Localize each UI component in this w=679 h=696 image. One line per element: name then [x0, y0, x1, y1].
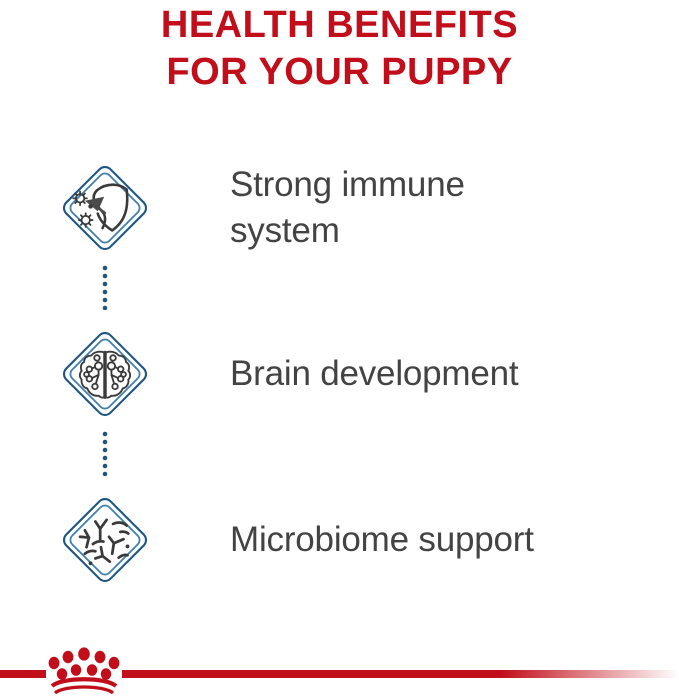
benefits-list: Strong immune system — [0, 140, 679, 608]
crown-base-arcs — [52, 679, 116, 693]
logo-bar-right — [122, 670, 679, 678]
benefit-label-immune: Strong immune system — [150, 162, 465, 254]
footer-logo-bar — [0, 626, 679, 696]
icon-slot-brain — [0, 318, 150, 430]
benefit-item-brain: Brain development — [0, 306, 679, 442]
icon-slot-microbiome — [0, 484, 150, 596]
benefit-item-microbiome: Microbiome support — [0, 472, 679, 608]
benefit-item-immune: Strong immune system — [0, 140, 679, 276]
benefit-label-microbiome: Microbiome support — [150, 517, 534, 563]
benefit-label-brain: Brain development — [150, 351, 518, 397]
title-line-2: FOR YOUR PUPPY — [0, 49, 679, 96]
dotted-line-icon — [98, 264, 112, 310]
connector-dots-2 — [0, 430, 150, 476]
icon-slot-immune — [0, 152, 150, 264]
royal-canin-crown-logo — [0, 626, 679, 696]
page-title: HEALTH BENEFITS FOR YOUR PUPPY — [0, 2, 679, 96]
crown-top-dots — [49, 647, 120, 669]
title-line-1: HEALTH BENEFITS — [0, 2, 679, 49]
brain-icon — [60, 318, 150, 430]
dotted-line-icon — [98, 430, 112, 476]
logo-bar-left — [0, 670, 46, 678]
microbiome-bacteria-icon — [60, 484, 150, 596]
connector-dots-1 — [0, 264, 150, 310]
shield-immune-icon — [60, 152, 150, 264]
